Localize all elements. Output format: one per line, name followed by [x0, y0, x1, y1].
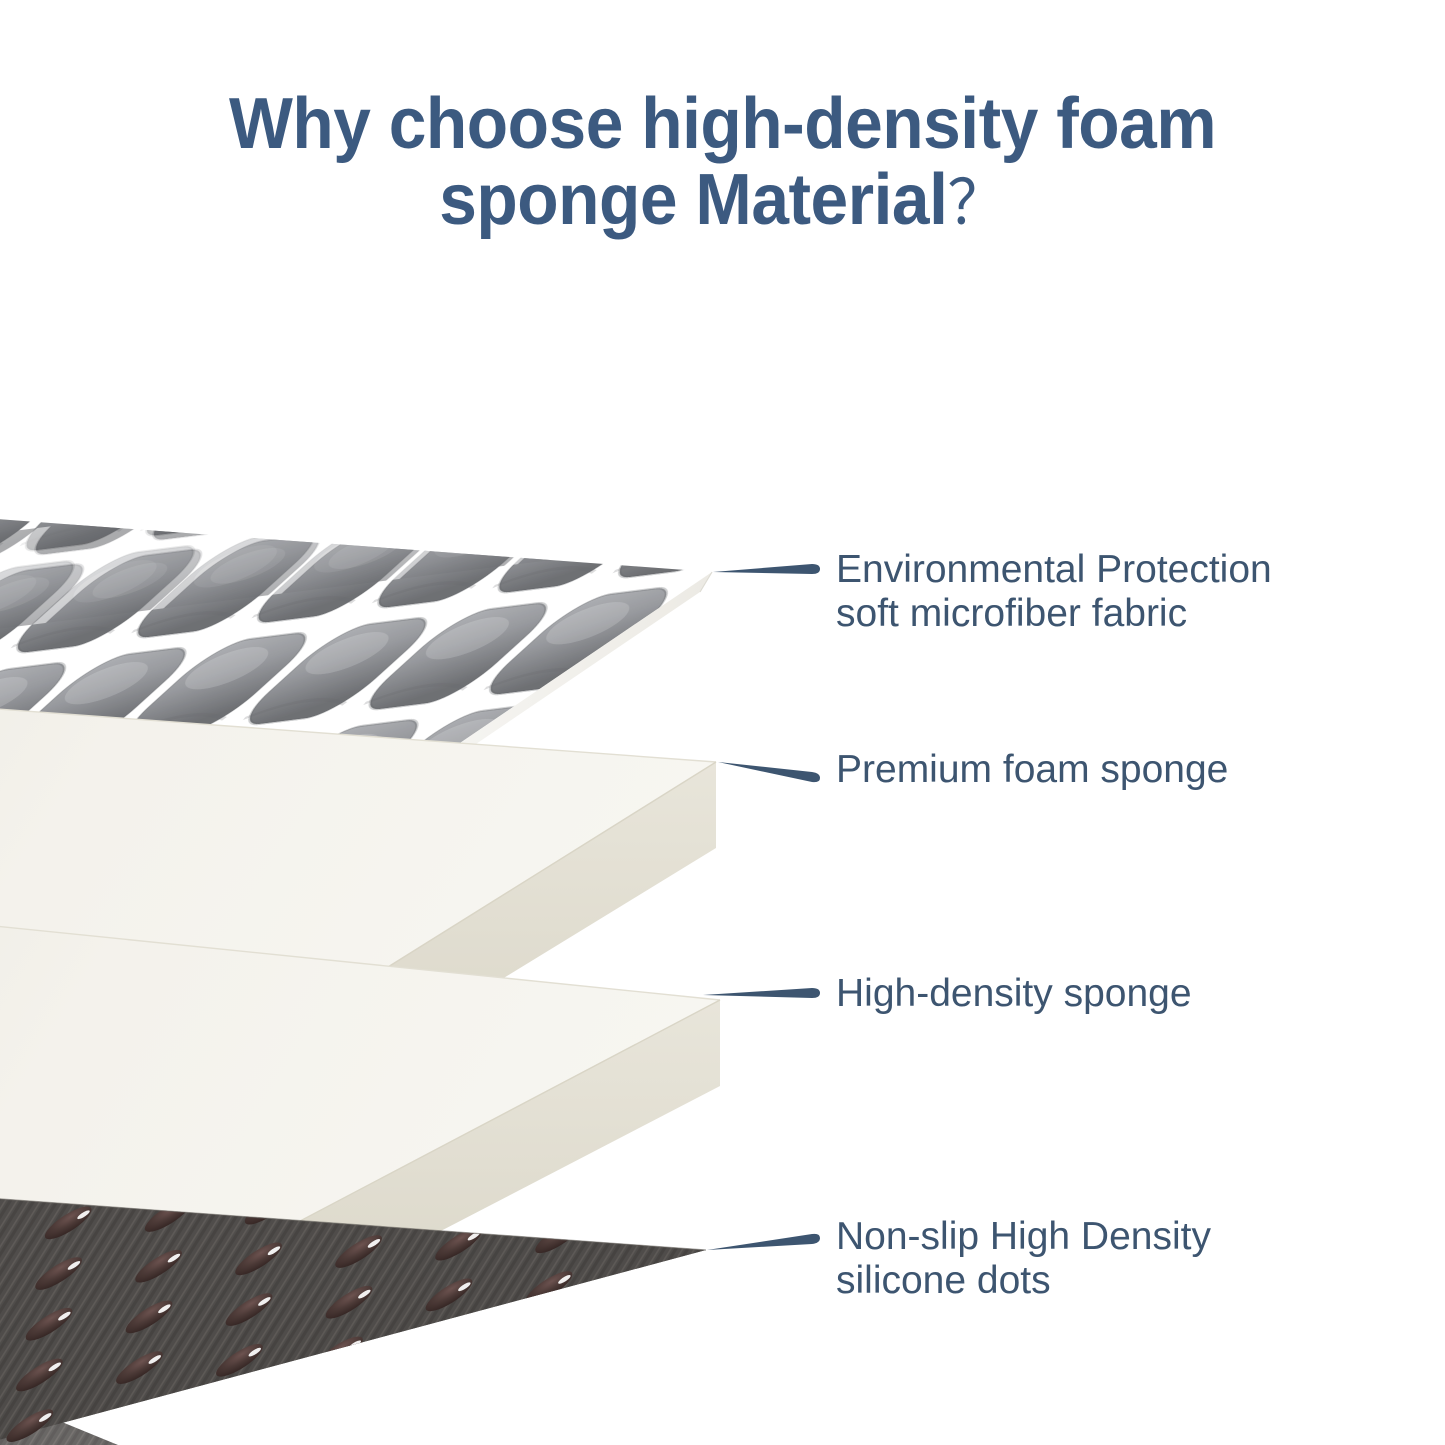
callout-2-line-1: Premium foam sponge	[836, 748, 1228, 791]
leader-line-3	[703, 988, 820, 998]
callout-1-line-2: soft microfiber fabric	[836, 592, 1272, 636]
leader-line-2	[718, 762, 820, 782]
callout-4-line-1: Non-slip High Density	[836, 1215, 1211, 1258]
callout-3-line-1: High-density sponge	[836, 972, 1192, 1015]
leader-line-1	[713, 564, 820, 574]
callout-4-line-2: silicone dots	[836, 1259, 1211, 1303]
callout-1-line-1: Environmental Protection	[836, 548, 1272, 591]
leader-line-4	[707, 1234, 820, 1250]
infographic-page: Why choose high-density foam sponge Mate…	[0, 0, 1445, 1445]
callout-high-density-sponge: High-density sponge	[836, 972, 1192, 1016]
callout-non-slip-silicone-dots: Non-slip High Density silicone dots	[836, 1215, 1211, 1303]
exploded-layer-illustration	[0, 0, 1445, 1445]
callout-environmental-protection-fabric: Environmental Protection soft microfiber…	[836, 548, 1272, 636]
callout-premium-foam-sponge: Premium foam sponge	[836, 748, 1228, 792]
leader-lines	[703, 564, 820, 1250]
